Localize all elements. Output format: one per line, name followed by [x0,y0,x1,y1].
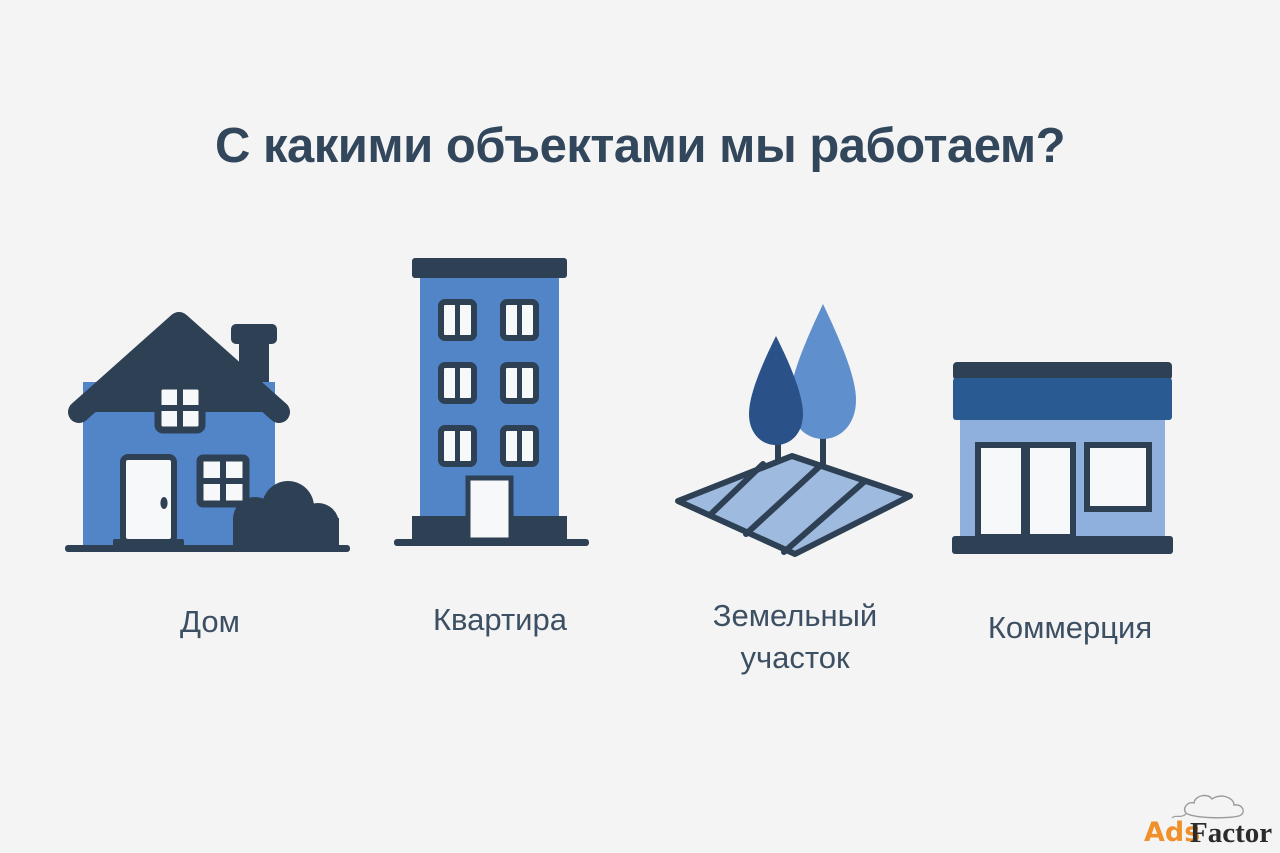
apartment-base-right [511,516,567,540]
house-door [113,457,184,549]
apartment-svg [390,248,610,556]
page-title: С какими объектами мы работаем? [0,118,1280,174]
item-house[interactable]: Дом [60,300,360,643]
apartment-roof-cap [412,258,567,278]
item-commerce[interactable]: Коммерция [930,340,1210,649]
watermark-svg: Ads Factory [1142,781,1272,847]
house-svg [60,300,360,560]
commerce-double-door [978,445,1073,537]
item-apartment-label: Квартира [433,599,567,641]
commerce-base [952,536,1173,554]
commercial-building-icon [930,340,1210,563]
watermark-adsfactory: Ads Factory [1142,781,1272,847]
item-house-label: Дом [180,601,240,643]
commerce-sign-band [953,378,1172,420]
land-svg [660,296,930,558]
commerce-window [1087,445,1149,509]
item-commerce-label: Коммерция [988,607,1152,649]
land-plot-icon [660,296,930,563]
item-land-plot-label: Земельный участок [713,595,877,679]
apartment-window [441,428,474,464]
apartment-window [503,365,536,401]
house-icon [60,300,360,565]
smoke-cloud-icon [1185,796,1244,818]
apartment-building-icon [390,248,610,561]
house-window-upper [158,386,202,430]
apartment-window [503,302,536,338]
apartment-entrance-door [468,478,511,540]
apartment-window [503,428,536,464]
infographic-canvas: С какими объектами мы работаем? [0,0,1280,853]
apartment-window [441,302,474,338]
house-window-lower [200,458,246,504]
house-ground-line [65,545,350,552]
watermark-factory-text: Factory [1190,817,1272,847]
tree-dark-crown [749,336,803,445]
commerce-top-bar [953,362,1172,380]
item-apartment[interactable]: Квартира [390,248,610,641]
apartment-ground-line [394,539,589,546]
commerce-svg [930,340,1210,558]
item-land-plot[interactable]: Земельный участок [660,296,930,679]
apartment-base-left [412,516,468,540]
apartment-window [441,365,474,401]
